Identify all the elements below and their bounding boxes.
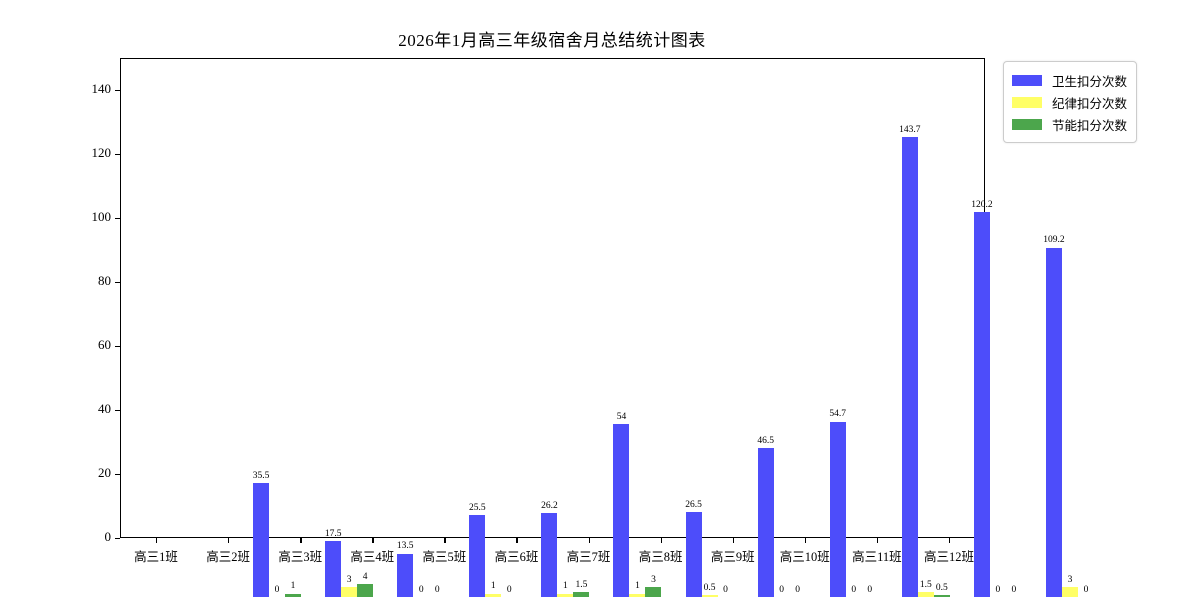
x-axis-tick-mark (516, 538, 517, 543)
bar: 1 (629, 594, 645, 597)
bar-value-label: 143.7 (899, 126, 920, 136)
bar: 3 (645, 587, 661, 597)
x-axis-tick-mark (300, 538, 301, 543)
x-axis-tick-label: 高三6班 (495, 546, 539, 565)
y-axis-tick-label: 0 (105, 529, 112, 545)
y-axis-tick-label: 60 (98, 337, 111, 353)
x-axis-tick-mark (372, 538, 373, 543)
x-axis-tick-mark (949, 538, 950, 543)
bar-value-label: 0 (419, 586, 424, 596)
y-axis-tick-label: 100 (92, 209, 112, 225)
y-axis-tick-label: 20 (98, 465, 111, 481)
bar-value-label: 0 (851, 586, 856, 596)
bar: 1 (285, 594, 301, 597)
chart-title: 2026年1月高三年级宿舍月总结统计图表 (0, 26, 1104, 51)
bars-layer: 35.50117.53413.50025.51026.211.5541326.5… (241, 117, 1106, 597)
y-axis-tick-label: 80 (98, 273, 111, 289)
bar-value-label: 0 (867, 586, 872, 596)
legend-color-swatch (1012, 75, 1042, 86)
x-axis-tick-mark (156, 538, 157, 543)
bar-value-label: 46.5 (757, 437, 774, 447)
bar-value-label: 0 (507, 586, 512, 596)
bar-value-label: 0 (435, 586, 440, 596)
legend-item[interactable]: 节能扣分次数 (1012, 113, 1127, 135)
x-axis-tick-mark (589, 538, 590, 543)
bar-value-label: 0.5 (936, 584, 948, 594)
bar: 0.5 (934, 595, 950, 597)
legend-item-label: 纪律扣分次数 (1052, 93, 1127, 112)
chart-legend: 卫生扣分次数纪律扣分次数节能扣分次数 (1003, 61, 1137, 143)
bar: 0.5 (702, 595, 718, 597)
x-axis-tick-label: 高三12班 (924, 546, 974, 565)
bar: 143.7 (902, 137, 918, 597)
y-axis-tick-label: 40 (98, 401, 111, 417)
bar-value-label: 26.2 (541, 502, 558, 512)
bar-value-label: 0 (779, 586, 784, 596)
bar: 1.5 (573, 592, 589, 597)
bar: 109.2 (1046, 248, 1062, 597)
x-axis-tick-label: 高三1班 (134, 546, 178, 565)
bar: 1 (485, 594, 501, 597)
x-axis-tick-label: 高三5班 (422, 546, 466, 565)
legend-item-label: 卫生扣分次数 (1052, 71, 1127, 90)
bar-value-label: 120.2 (971, 201, 992, 211)
x-axis-tick-label: 高三3班 (278, 546, 322, 565)
legend-color-swatch (1012, 119, 1042, 130)
bar-value-label: 109.2 (1043, 236, 1064, 246)
x-axis-tick-label: 高三11班 (852, 546, 902, 565)
bar-value-label: 0 (1084, 586, 1089, 596)
x-axis-tick-label: 高三2班 (206, 546, 250, 565)
bar-value-label: 35.5 (253, 472, 270, 482)
bar: 3 (1062, 587, 1078, 597)
legend-item[interactable]: 卫生扣分次数 (1012, 69, 1127, 91)
bar: 4 (357, 584, 373, 597)
x-axis-tick-mark (877, 538, 878, 543)
y-axis-tick-label: 120 (92, 145, 112, 161)
legend-color-swatch (1012, 97, 1042, 108)
legend-item-label: 节能扣分次数 (1052, 115, 1127, 134)
bar-value-label: 0 (996, 586, 1001, 596)
bar-value-label: 3 (1068, 576, 1073, 586)
x-axis-tick-label: 高三10班 (780, 546, 830, 565)
x-axis-tick-mark (733, 538, 734, 543)
x-axis-tick-mark (228, 538, 229, 543)
chart-figure: 2026年1月高三年级宿舍月总结统计图表 020406080100120140 … (0, 0, 1200, 600)
y-axis: 020406080100120140 (0, 58, 120, 538)
bar-value-label: 0 (795, 586, 800, 596)
bar-value-label: 54 (617, 413, 627, 423)
y-axis-tick-label: 140 (92, 81, 112, 97)
x-axis-tick-label: 高三4班 (350, 546, 394, 565)
x-axis-tick-mark (661, 538, 662, 543)
bar-value-label: 0.5 (704, 584, 716, 594)
x-axis-tick-label: 高三8班 (639, 546, 683, 565)
x-axis-tick-mark (805, 538, 806, 543)
bar: 1 (557, 594, 573, 597)
bar-value-label: 26.5 (685, 501, 702, 511)
bar-value-label: 54.7 (829, 410, 846, 420)
bar-value-label: 0 (275, 586, 280, 596)
bar-value-label: 0 (723, 586, 728, 596)
bar-value-label: 0 (1012, 586, 1017, 596)
x-axis-tick-label: 高三7班 (567, 546, 611, 565)
bar: 1.5 (918, 592, 934, 597)
bar-value-label: 25.5 (469, 504, 486, 514)
legend-item[interactable]: 纪律扣分次数 (1012, 91, 1127, 113)
x-axis: 高三1班高三2班高三3班高三4班高三5班高三6班高三7班高三8班高三9班高三10… (120, 538, 985, 584)
x-axis-tick-label: 高三9班 (711, 546, 755, 565)
plot-area: 35.50117.53413.50025.51026.211.5541326.5… (120, 58, 985, 538)
x-axis-tick-mark (444, 538, 445, 543)
bar: 3 (341, 587, 357, 597)
